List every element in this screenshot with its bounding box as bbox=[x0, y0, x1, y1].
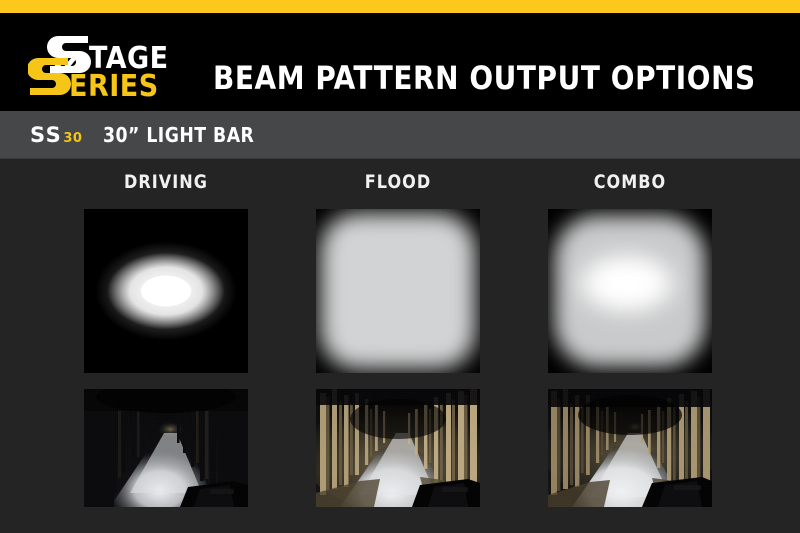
driving-beam-glow bbox=[84, 209, 248, 373]
road-photo-flood bbox=[316, 389, 480, 507]
beam-pattern-columns: DRIVING bbox=[0, 159, 800, 533]
road-photo-combo bbox=[548, 389, 712, 507]
product-name: 30” LIGHT BAR bbox=[103, 123, 254, 147]
model-badge-size: 30 bbox=[63, 131, 82, 146]
combo-beam-glow bbox=[548, 209, 712, 373]
column-driving: DRIVING bbox=[82, 159, 250, 193]
column-label-combo: COMBO bbox=[551, 171, 709, 193]
model-badge: SS30 bbox=[30, 123, 82, 147]
road-photo-driving bbox=[84, 389, 248, 507]
column-label-flood: FLOOD bbox=[319, 171, 477, 193]
column-flood: FLOOD bbox=[314, 159, 482, 193]
column-label-driving: DRIVING bbox=[87, 171, 245, 193]
flood-beam-glow bbox=[316, 209, 480, 373]
beam-pattern-combo bbox=[548, 209, 712, 373]
model-badge-prefix: SS bbox=[30, 123, 62, 147]
beam-pattern-driving bbox=[84, 209, 248, 373]
product-subheader-bar: SS30 30” LIGHT BAR bbox=[0, 111, 800, 159]
page-header: TAGE ERIES BEAM PATTERN OUTPUT OPTIONS bbox=[0, 13, 800, 111]
beam-pattern-flood bbox=[316, 209, 480, 373]
logo-text-series: ERIES bbox=[69, 69, 159, 100]
page-title: BEAM PATTERN OUTPUT OPTIONS bbox=[213, 62, 756, 94]
top-accent-bar bbox=[0, 0, 800, 13]
column-combo: COMBO bbox=[546, 159, 714, 193]
stage-series-logo: TAGE ERIES bbox=[28, 28, 188, 100]
